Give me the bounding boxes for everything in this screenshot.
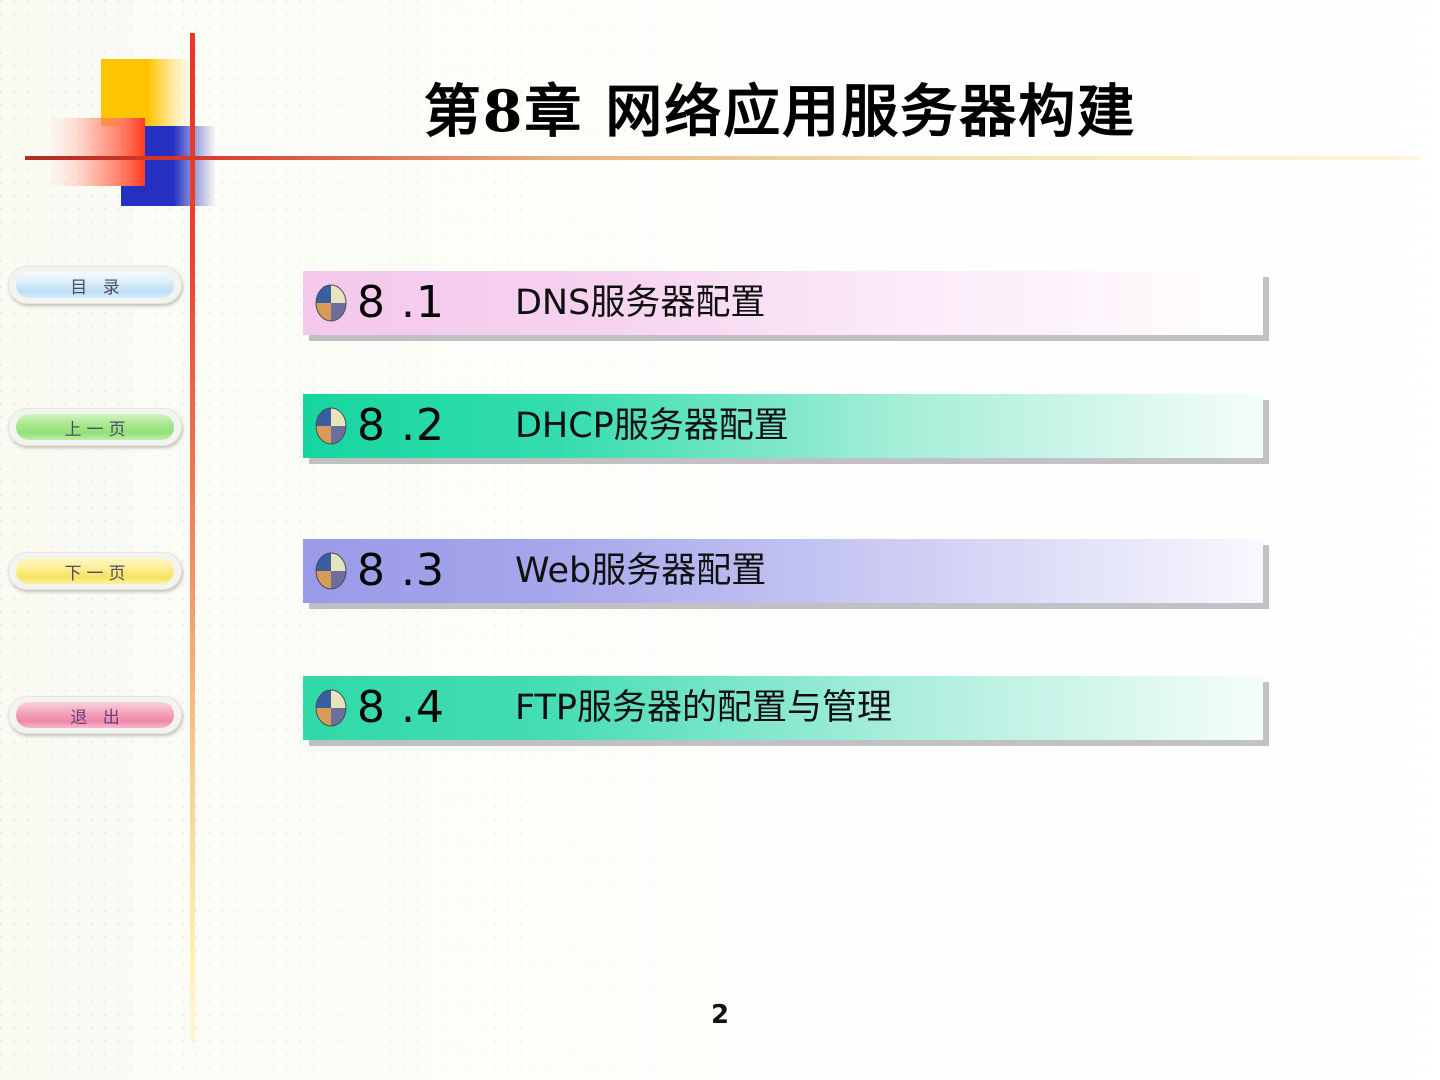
sphere-icon — [314, 689, 348, 727]
sidebar-button-exit[interactable]: 退 出 — [8, 696, 182, 734]
sidebar-button-toc-face: 目 录 — [16, 272, 174, 298]
sphere-icon — [314, 284, 348, 322]
slide-canvas: 第8章 网络应用服务器构建 目 录 上一页 下一页 退 出 — [0, 0, 1440, 1080]
content-row-number: 8 .1 — [357, 280, 445, 326]
content-row[interactable]: 8 .1 DNS服务器配置 — [303, 271, 1263, 335]
content-row[interactable]: 8 .4 FTP服务器的配置与管理 — [303, 676, 1263, 740]
vertical-rule — [190, 33, 195, 1043]
sidebar-button-prev-page[interactable]: 上一页 — [8, 408, 182, 446]
content-row-caption: Web服务器配置 — [515, 551, 766, 591]
sidebar-button-next-page[interactable]: 下一页 — [8, 552, 182, 590]
sphere-icon — [314, 407, 348, 445]
sidebar-button-toc[interactable]: 目 录 — [8, 266, 182, 304]
page-number: 2 — [0, 1000, 1440, 1030]
content-row-number: 8 .2 — [357, 403, 445, 449]
content-row-number: 8 .4 — [357, 685, 445, 731]
content-row-number: 8 .3 — [357, 548, 445, 594]
logo-yellow-square — [101, 59, 191, 126]
sphere-icon — [314, 552, 348, 590]
sidebar-button-prev-page-label: 上一页 — [60, 415, 131, 440]
sidebar-button-next-page-face: 下一页 — [16, 558, 174, 584]
content-row-caption: FTP服务器的配置与管理 — [515, 688, 892, 728]
sidebar-button-next-page-label: 下一页 — [60, 559, 131, 584]
content-row[interactable]: 8 .3 Web服务器配置 — [303, 539, 1263, 603]
logo-red-rectangle — [48, 118, 145, 186]
slide-title: 第8章 网络应用服务器构建 — [300, 78, 1260, 146]
sidebar-button-exit-face: 退 出 — [16, 702, 174, 728]
content-row-caption: DNS服务器配置 — [515, 283, 765, 323]
sidebar-button-toc-label: 目 录 — [65, 273, 124, 298]
content-row-caption: DHCP服务器配置 — [515, 406, 789, 446]
horizontal-rule — [25, 156, 1421, 160]
sidebar-button-prev-page-face: 上一页 — [16, 414, 174, 440]
content-row[interactable]: 8 .2 DHCP服务器配置 — [303, 394, 1263, 458]
sidebar-button-exit-label: 退 出 — [65, 703, 124, 728]
